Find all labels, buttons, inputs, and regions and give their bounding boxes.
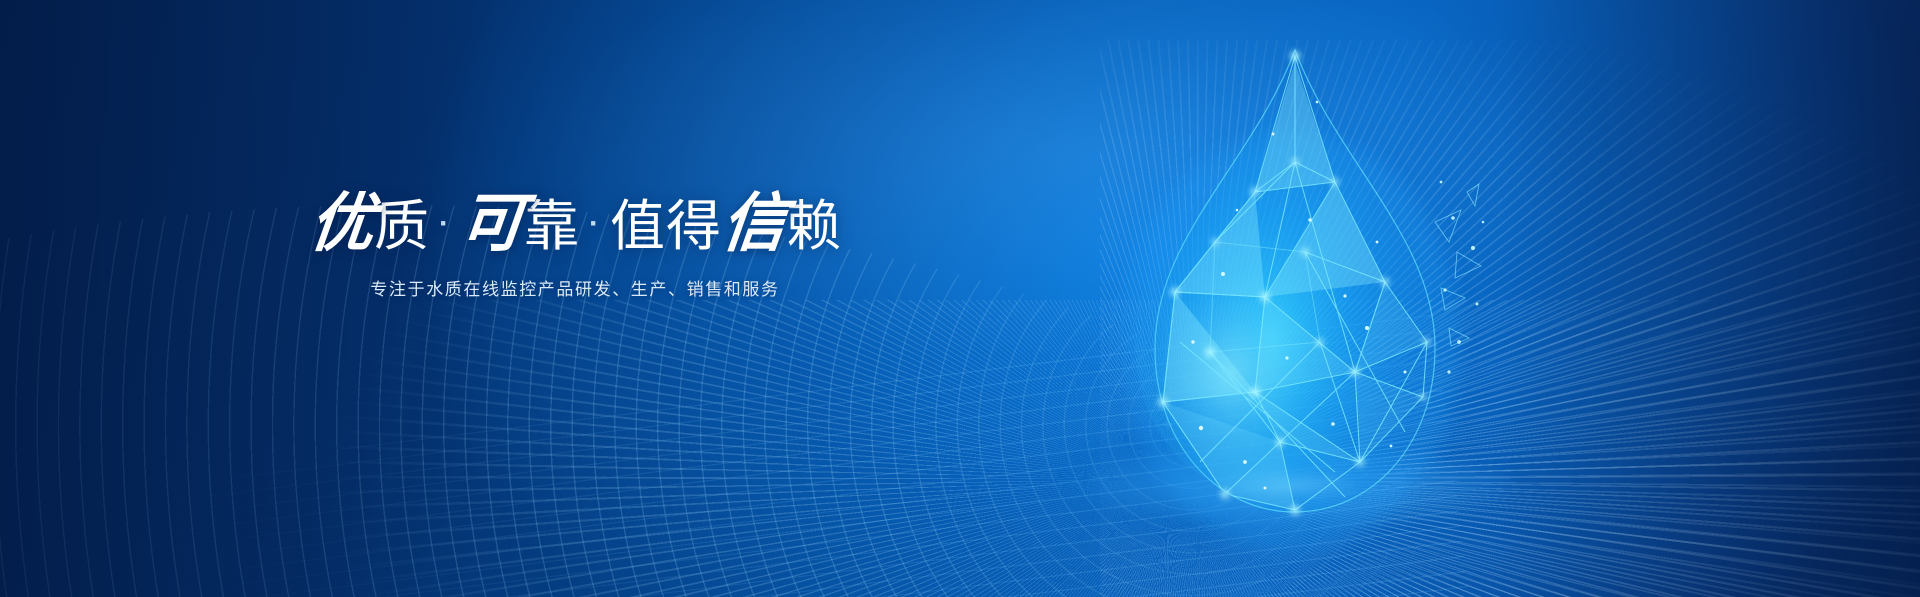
- headline-char-3: 可: [456, 190, 527, 257]
- headline-char-5: 值得: [610, 195, 722, 257]
- hero-banner: 优质·可靠·值得信赖 专注于水质在线监控产品研发、生产、销售和服务: [0, 0, 1920, 597]
- headline-char-2: 质: [374, 195, 430, 257]
- headline-char-1: 优: [306, 190, 377, 257]
- headline-separator-1: ·: [439, 208, 451, 240]
- edge-vignette: [0, 0, 1920, 597]
- headline-separator-2: ·: [589, 208, 601, 240]
- page-subtitle: 专注于水质在线监控产品研发、生产、销售和服务: [310, 275, 840, 300]
- headline-char-4: 靠: [524, 195, 580, 257]
- headline-char-6: 信: [719, 190, 790, 257]
- background-decoration: [0, 0, 1920, 597]
- page-title: 优质·可靠·值得信赖: [310, 190, 840, 257]
- headline-char-7: 赖: [786, 195, 842, 257]
- water-drop-icon: [1105, 42, 1485, 542]
